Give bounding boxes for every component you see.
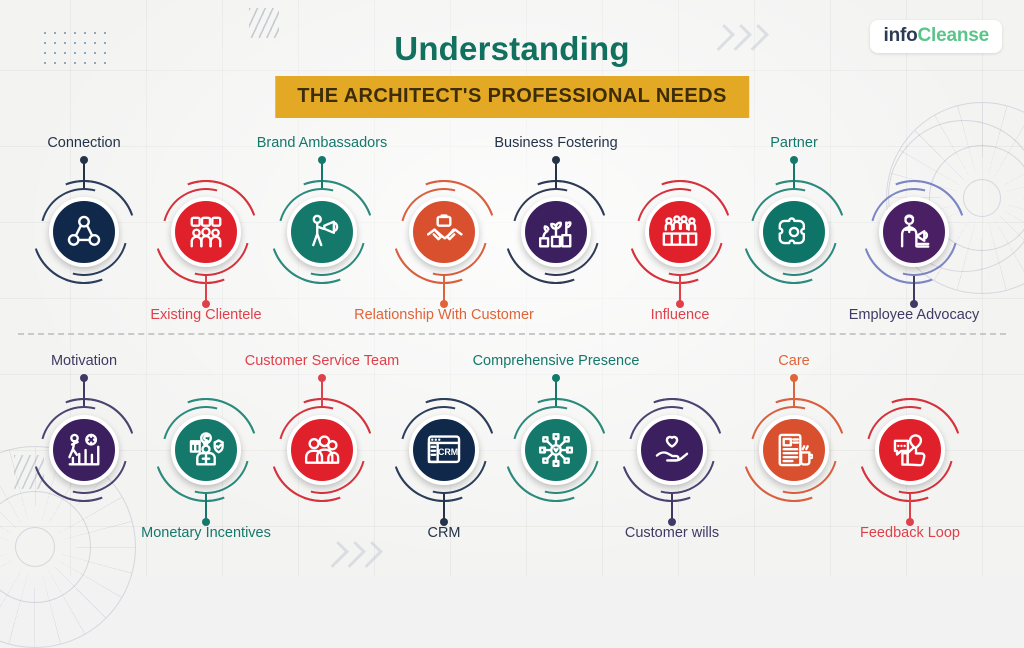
support-team-icon-glyph [303,431,341,469]
logo-text-info: info [883,25,917,46]
node-circle[interactable] [870,188,958,276]
connector-dot [790,156,798,164]
crm-window-icon-glyph: CRM [425,431,463,469]
node-circle[interactable] [750,188,838,276]
node-label: Customer wills [572,524,772,542]
node-care[interactable]: Care [734,406,854,494]
node-relationship-with-customer[interactable]: Relationship With Customer [384,188,504,276]
node-circle[interactable] [750,406,838,494]
connector-stem [443,494,445,522]
node-existing-clientele[interactable]: Existing Clientele [146,188,266,276]
node-label: Employee Advocacy [814,306,1014,324]
node-circle[interactable]: CRM [400,406,488,494]
puzzle-gear-icon-glyph [775,213,813,251]
node-customer-wills[interactable]: Customer wills [612,406,732,494]
node-circle[interactable] [512,406,600,494]
crm-window-icon[interactable]: CRM [409,415,479,485]
node-label: Customer Service Team [222,352,422,370]
connector-stem [555,160,557,188]
network-nodes-icon[interactable] [521,415,591,485]
connector-dot [552,156,560,164]
node-circle[interactable] [512,188,600,276]
connector-stem [443,276,445,304]
node-circle[interactable] [40,188,128,276]
family-customers-icon-glyph [187,213,225,251]
heart-in-hand-icon[interactable] [637,415,707,485]
people-network-icon[interactable] [49,197,119,267]
connector-stem [793,160,795,188]
node-label: Motivation [0,352,184,370]
connector-stem [205,276,207,304]
node-customer-service-team[interactable]: Customer Service Team [262,406,382,494]
handshake-briefcase-icon-glyph [425,213,463,251]
benefits-rewards-icon-glyph [187,431,225,469]
node-influence[interactable]: Influence [620,188,740,276]
connector-stem [913,276,915,304]
node-circle[interactable] [400,188,488,276]
megaphone-person-icon-glyph [303,213,341,251]
section-divider [18,333,1006,335]
node-motivation[interactable]: Motivation [24,406,144,494]
node-circle[interactable] [162,406,250,494]
heart-in-hand-icon-glyph [653,431,691,469]
node-label: Connection [0,134,184,152]
node-connection[interactable]: Connection [24,188,144,276]
connector-dot [80,156,88,164]
brand-logo[interactable]: infoCleanse [870,20,1002,53]
puzzle-gear-icon[interactable] [759,197,829,267]
node-label: Influence [580,306,780,324]
growing-plants-icon[interactable] [521,197,591,267]
node-circle[interactable] [162,188,250,276]
node-circle[interactable] [866,406,954,494]
network-nodes-icon-glyph [537,431,575,469]
node-crm[interactable]: CRMCRM [384,406,504,494]
handshake-briefcase-icon[interactable] [409,197,479,267]
node-circle[interactable] [278,406,366,494]
growth-chart-person-icon[interactable] [49,415,119,485]
node-circle[interactable] [40,406,128,494]
connector-stem [83,378,85,406]
node-label: Comprehensive Presence [456,352,656,370]
connector-dot [790,374,798,382]
node-label: Relationship With Customer [344,306,544,324]
node-circle[interactable] [628,406,716,494]
node-monetary-incentives[interactable]: Monetary Incentives [146,406,266,494]
connector-dot [80,374,88,382]
benefits-rewards-icon[interactable] [171,415,241,485]
connector-stem [321,378,323,406]
node-comprehensive-presence[interactable]: Comprehensive Presence [496,406,616,494]
connector-dot [318,156,326,164]
node-label: CRM [344,524,544,542]
connector-stem [671,494,673,522]
growth-chart-person-icon-glyph [65,431,103,469]
document-care-icon-glyph [775,431,813,469]
megaphone-person-icon[interactable] [287,197,357,267]
node-partner[interactable]: Partner [734,188,854,276]
node-circle[interactable] [278,188,366,276]
growing-plants-icon-glyph [537,213,575,251]
audience-group-icon-glyph [661,213,699,251]
family-customers-icon[interactable] [171,197,241,267]
node-label: Feedback Loop [810,524,1010,542]
connector-stem [793,378,795,406]
feedback-thumbsup-icon-glyph [891,431,929,469]
employee-speaker-icon-glyph [895,213,933,251]
node-business-fostering[interactable]: Business Fostering [496,188,616,276]
audience-group-icon[interactable] [645,197,715,267]
svg-text:CRM: CRM [438,447,458,457]
connector-stem [83,160,85,188]
node-label: Monetary Incentives [106,524,306,542]
document-care-icon[interactable] [759,415,829,485]
connector-stem [555,378,557,406]
node-circle[interactable] [636,188,724,276]
connector-stem [679,276,681,304]
people-network-icon-glyph [65,213,103,251]
subtitle-banner: THE ARCHITECT'S PROFESSIONAL NEEDS [275,76,749,118]
node-label: Partner [694,134,894,152]
node-label: Brand Ambassadors [222,134,422,152]
connector-dot [318,374,326,382]
connector-stem [321,160,323,188]
connector-stem [205,494,207,522]
node-brand-ambassadors[interactable]: Brand Ambassadors [262,188,382,276]
node-feedback-loop[interactable]: Feedback Loop [850,406,970,494]
connector-dot [552,374,560,382]
node-employee-advocacy[interactable]: Employee Advocacy [854,188,974,276]
employee-speaker-icon[interactable] [879,197,949,267]
node-label: Business Fostering [456,134,656,152]
node-label: Existing Clientele [106,306,306,324]
node-label: Care [694,352,894,370]
connector-stem [909,494,911,522]
logo-text-cleanse: Cleanse [918,25,989,46]
feedback-thumbsup-icon[interactable] [875,415,945,485]
support-team-icon[interactable] [287,415,357,485]
